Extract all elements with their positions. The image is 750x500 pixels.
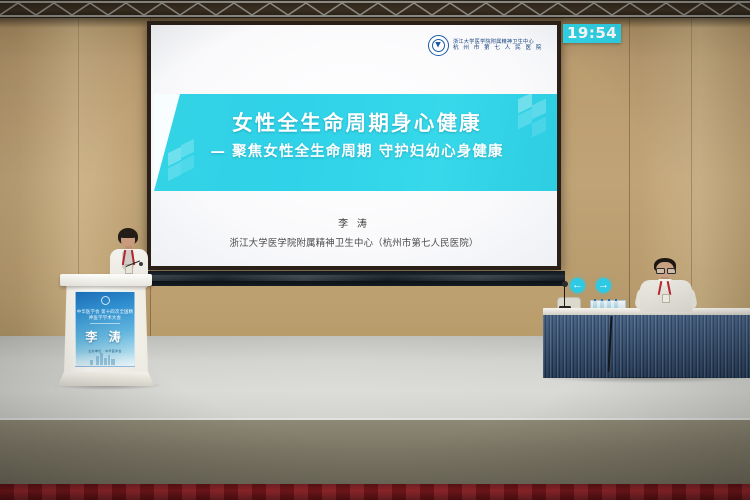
clock-display: 19:54 — [563, 24, 621, 43]
podium-display-logo — [76, 296, 134, 306]
glasses-icon — [656, 268, 674, 272]
podium-display-skyline — [76, 352, 134, 366]
ceiling-truss — [0, 0, 750, 18]
table-shadow — [540, 377, 750, 383]
podium-display-header: 中华医学会 第十四次全国精神医学学术大会 — [76, 309, 134, 321]
red-carpet — [0, 484, 750, 500]
hospital-logo-text: 浙江大学医学院附属精神卫生中心 杭 州 市 第 七 人 民 医 院 — [453, 40, 543, 52]
panelist-badge — [662, 294, 670, 303]
stage-front-panel — [0, 420, 750, 484]
projection-screen: 浙江大学医学院附属精神卫生中心 杭 州 市 第 七 人 民 医 院 — [147, 21, 561, 270]
slide-speaker-name: 李 涛 — [151, 215, 557, 230]
podium-display-rule — [90, 323, 120, 324]
hospital-logo-mark — [428, 35, 449, 56]
slide-speaker-org: 浙江大学医学院附属精神卫生中心（杭州市第七人民医院） — [151, 235, 557, 249]
stage-backdrop-band — [143, 271, 565, 286]
hospital-logo-line2: 杭 州 市 第 七 人 民 医 院 — [453, 46, 543, 52]
arrow-left-icon: ← — [572, 280, 583, 291]
slide-surface: 浙江大学医学院附属精神卫生中心 杭 州 市 第 七 人 民 医 院 — [151, 25, 557, 266]
table-microphone — [557, 284, 573, 308]
slide-title: 女性全生命周期身心健康 — [154, 106, 557, 136]
podium-logo-icon — [101, 296, 110, 305]
hospital-logo: 浙江大学医学院附属精神卫生中心 杭 州 市 第 七 人 民 医 院 — [428, 35, 543, 56]
slide-title-banner: 女性全生命周期身心健康 — 聚焦女性全生命周期 守护妇幼心身健康 — [154, 94, 557, 191]
table-skirt — [543, 315, 750, 378]
arrow-right-sign: → — [596, 278, 611, 293]
podium: 中华医学会 第十四次全国精神医学学术大会 李 涛 主办单位 · 中华医学会 — [64, 274, 148, 386]
slide-subtitle: — 聚焦女性全生命周期 守护妇幼心身健康 — [154, 140, 557, 161]
podium-top — [60, 274, 152, 286]
panelist-person — [637, 258, 695, 312]
microphone-icon — [562, 281, 568, 287]
panel-table — [543, 308, 750, 386]
microphone-icon — [139, 262, 143, 266]
podium-base — [58, 372, 154, 386]
arrow-right-icon: → — [598, 280, 609, 291]
podium-display-name: 李 涛 — [76, 328, 134, 345]
conference-photo: 浙江大学医学院附属精神卫生中心 杭 州 市 第 七 人 民 医 院 — [0, 0, 750, 500]
truss-lattice-icon — [0, 2, 750, 16]
podium-display: 中华医学会 第十四次全国精神医学学术大会 李 涛 主办单位 · 中华医学会 — [75, 291, 135, 367]
